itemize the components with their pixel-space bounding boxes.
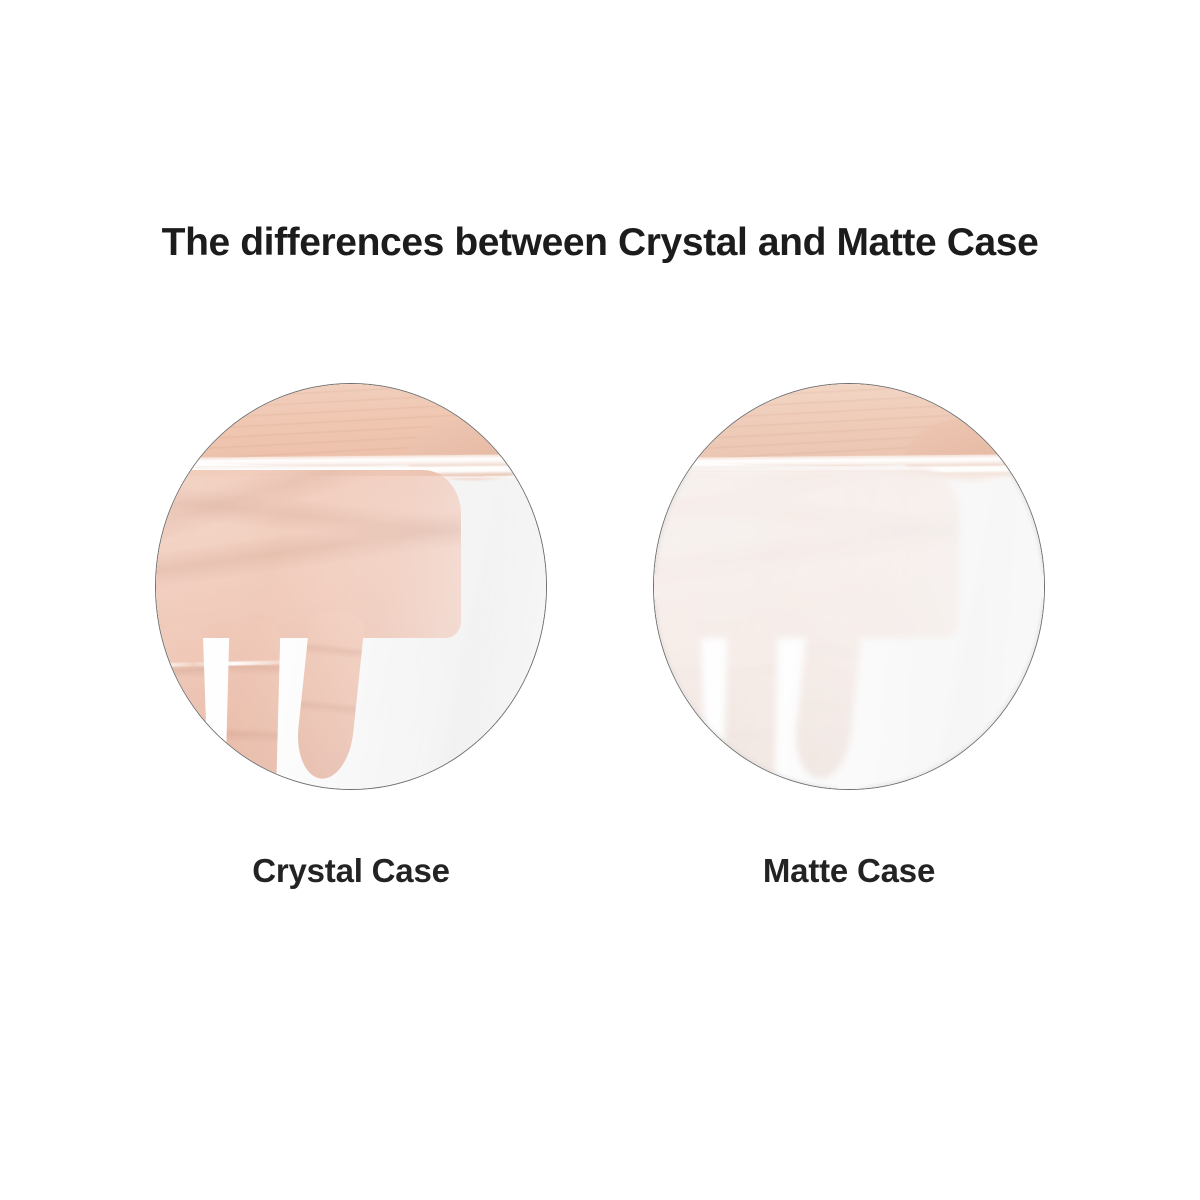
- palm: [155, 470, 461, 638]
- palm: [653, 470, 959, 638]
- hand-through-case: [653, 470, 959, 790]
- hand-through-case: [155, 470, 461, 790]
- product-comparison-page: The differences between Crystal and Matt…: [0, 0, 1200, 1200]
- finger-ring: [155, 624, 209, 790]
- finger-middle: [722, 620, 778, 790]
- caption-matte-case: Matte Case: [653, 852, 1045, 890]
- finger-middle: [224, 620, 280, 790]
- comparison-panel-crystal: [155, 383, 547, 790]
- crystal-scene: [155, 383, 547, 790]
- matte-case-photo: [653, 383, 1045, 790]
- comparison-panel-matte: [653, 383, 1045, 790]
- matte-scene: [653, 383, 1045, 790]
- caption-crystal-case: Crystal Case: [155, 852, 547, 890]
- page-title: The differences between Crystal and Matt…: [0, 222, 1200, 265]
- finger-ring: [653, 624, 707, 790]
- comparison-row: [0, 383, 1200, 793]
- crystal-case-photo: [155, 383, 547, 790]
